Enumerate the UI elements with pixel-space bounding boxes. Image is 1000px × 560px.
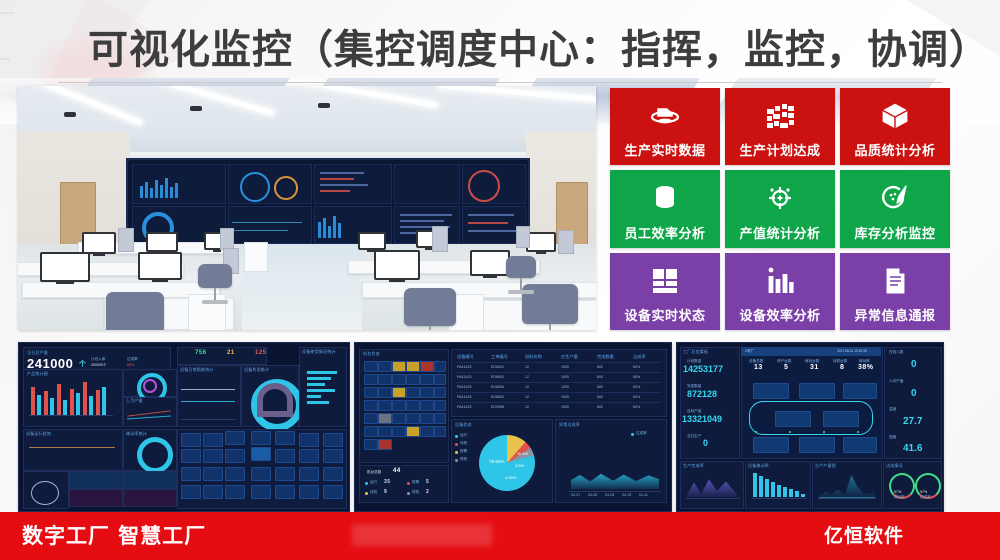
table-header: 应生产量 [561, 354, 578, 360]
slide-root: 可视化监控（集控调度中心：指挥，监控，协调） [0, 0, 1000, 560]
kpi-plan-label: 计划入库 [91, 357, 105, 362]
target-crosshair-icon [725, 179, 835, 217]
panel-title: 生产产量图 [815, 463, 836, 469]
kpi-value: 0 [911, 359, 917, 370]
table-cell: 12 [525, 395, 529, 399]
kpi-value: 14253177 [683, 364, 723, 374]
kpi-value: 872128 [687, 389, 717, 399]
table-cell: ED8051 [491, 375, 504, 379]
kpi-plan-value: 200000个 [91, 363, 107, 368]
table-cell: 600 [597, 385, 603, 389]
gauge-label: 稼动率 [894, 495, 905, 500]
table-header: 设备编号 [457, 354, 474, 360]
card-production-realtime-data[interactable]: 生产实时数据 [610, 88, 720, 165]
table-cell: 600 [597, 365, 603, 369]
panel-title: 稼动率统计 [126, 431, 147, 437]
table-cell: 60% [633, 375, 640, 379]
table-cell: 1000 [561, 375, 569, 379]
stat-value: 38% [858, 364, 874, 371]
card-label: 设备实时状态 [624, 305, 705, 324]
database-cylinder-icon [610, 179, 720, 217]
pie-label: 4.55% [505, 475, 516, 480]
card-quality-statistics-analysis[interactable]: 品质统计分析 [840, 88, 950, 165]
kpi-label: 温度 [889, 407, 896, 412]
axis-tick: 04-10 [622, 493, 631, 497]
table-cell: PA41425 [457, 405, 472, 409]
axis-tick: 04-11 [639, 493, 648, 497]
kpi-value: 0 [703, 438, 708, 448]
table-cell: PA41425 [457, 365, 472, 369]
title-divider [58, 82, 942, 83]
table-cell: 60% [633, 365, 640, 369]
kpi-value: 27.7 [903, 416, 922, 427]
brick-blocks-icon [725, 97, 835, 135]
dashboard-thumbnail-factory-overview[interactable]: 工厂总览看板 计划数量 14253177 完成数量 872128 目标产量 13… [676, 342, 944, 512]
card-abnormal-information-report[interactable]: 异常信息通报 [840, 253, 950, 330]
panel-title: 工厂总览看板 [683, 349, 708, 355]
card-label: 产值统计分析 [739, 223, 820, 242]
table-cell: 1000 [561, 405, 569, 409]
axis-tick: 04-09 [605, 493, 614, 497]
kpi-idle-count: 125 [255, 350, 267, 356]
table-cell: PA41425 [457, 395, 472, 399]
legend-label: 运行 [370, 480, 377, 485]
cube-box-icon [840, 97, 950, 135]
kpi-label: 湿度 [889, 435, 896, 440]
pie-legend: 待机 [460, 441, 467, 446]
card-label: 库存分析监控 [854, 223, 935, 242]
dashboard-tiles-icon [610, 262, 720, 300]
card-label: 员工效率分析 [624, 223, 705, 242]
office-chair [404, 288, 456, 326]
panel-title: 设备状态 [455, 422, 472, 428]
highlight-outline [749, 401, 873, 435]
pie-legend: 报警 [460, 449, 467, 454]
kpi-running-count: 756 [195, 350, 207, 356]
control-room-photo [18, 86, 596, 330]
factory-name: 1号厂 [745, 349, 754, 354]
card-production-plan-achievement[interactable]: 生产计划达成 [725, 88, 835, 165]
pie-legend: 停机 [460, 457, 467, 462]
table-cell: 12 [525, 375, 529, 379]
card-inventory-analysis-monitoring[interactable]: 库存分析监控 [840, 170, 950, 247]
legend-label: 待机 [370, 490, 377, 495]
table-header: 达成率 [633, 354, 646, 360]
pie-label: 4.5% [515, 463, 524, 468]
footer-right-brand: 亿恒软件 [824, 512, 904, 560]
saturn-disk-icon [610, 97, 720, 135]
panel-title: 生产完成率 [683, 463, 704, 469]
machine-total-label: 机台总数 [367, 470, 381, 475]
card-equipment-realtime-status[interactable]: 设备实时状态 [610, 253, 720, 330]
table-header: 投料名称 [525, 354, 542, 360]
pie-label: 11.4% [517, 451, 528, 456]
kpi-value: 13321049 [682, 414, 722, 424]
table-cell: 12 [525, 385, 529, 389]
legend-label: 报警 [412, 480, 419, 485]
panel-title: 设备运行趋势 [26, 431, 51, 437]
panel-title: 达成情况 [886, 463, 903, 469]
kpi-rate-value: 95% [127, 363, 134, 367]
area-legend: 达成率 [636, 431, 647, 436]
card-label: 生产实时数据 [624, 140, 705, 159]
footer-watermark [352, 524, 492, 546]
axis-tick: 04-07 [571, 493, 580, 497]
card-output-value-statistics-analysis[interactable]: 产值统计分析 [725, 170, 835, 247]
kpi-unit: 个 [79, 359, 86, 369]
module-card-grid: 生产实时数据 生产计划达成 [610, 88, 950, 330]
table-cell: 60% [633, 405, 640, 409]
pie-label: 79.55% [489, 459, 505, 464]
office-chair [506, 256, 536, 278]
panel-title: 产品统计图 [27, 371, 48, 377]
pie-chart [479, 435, 535, 491]
legend-value: 5 [426, 479, 429, 485]
table-header: 完成数量 [597, 354, 614, 360]
bg-tick-1 [0, 12, 14, 14]
legend-value: 2 [426, 489, 429, 495]
panel-title: 设备日常损耗统计 [180, 367, 214, 373]
kpi-label: 人均产值 [889, 379, 903, 384]
panel-title: 异常达成率 [559, 422, 580, 428]
table-cell: 12 [525, 405, 529, 409]
table-cell: 12 [525, 365, 529, 369]
table-cell: ED8054 [491, 385, 504, 389]
panel-title: 机台状态 [363, 351, 380, 357]
table-cell: 600 [597, 405, 603, 409]
document-lines-icon [840, 262, 950, 300]
kpi-rate-label: 达成率 [127, 357, 138, 362]
footer-left-text: 数字工厂 智慧工厂 [22, 512, 206, 560]
page-title: 可视化监控（集控调度中心：指挥，监控，协调） [88, 22, 990, 78]
panel-title: 设备稼动率 [748, 463, 769, 469]
kpi-label: 当日生产 [687, 434, 701, 439]
page-title-wrap: 可视化监控（集控调度中心：指挥，监控，协调） [0, 22, 1000, 78]
timestamp: 2017-08-01 19:33:35 [837, 349, 867, 353]
table-cell: 1000 [561, 395, 569, 399]
table-cell: 600 [597, 375, 603, 379]
table-cell: 60% [633, 395, 640, 399]
bar-chart-icon [725, 262, 835, 300]
table-cell: PA41425 [457, 385, 472, 389]
table-cell: 1000 [561, 365, 569, 369]
card-equipment-efficiency-analysis[interactable]: 设备效率分析 [725, 253, 835, 330]
stat-value: 31 [810, 364, 819, 371]
gauge-value: 97% [920, 490, 927, 494]
card-label: 生产计划达成 [739, 140, 820, 159]
gauge-value: 97% [894, 490, 901, 494]
gauge-label: 达成率 [920, 495, 931, 500]
table-cell: 60% [633, 385, 640, 389]
table-cell: 1200 [561, 385, 569, 389]
table-cell: 600 [597, 395, 603, 399]
card-employee-efficiency-analysis[interactable]: 员工效率分析 [610, 170, 720, 247]
stat-value: 5 [784, 364, 788, 371]
office-chair [198, 264, 232, 288]
panel-title: 设备利用统计 [244, 367, 269, 373]
office-chair [106, 292, 164, 330]
magnifier-pen-icon [840, 179, 950, 217]
stat-value: 13 [754, 364, 763, 371]
table-header: 工单编号 [491, 354, 508, 360]
pie-legend: 运行 [460, 433, 467, 438]
video-wall [126, 158, 530, 248]
panel-title: 设备使用情况统计 [302, 349, 336, 355]
footer-banner: 数字工厂 智慧工厂 亿恒软件 [0, 512, 1000, 560]
table-cell: ED8051 [491, 365, 504, 369]
card-label: 品质统计分析 [854, 140, 935, 159]
kpi-value: 41.6 [903, 443, 922, 454]
card-label: 设备效率分析 [739, 305, 820, 324]
axis-tick: 04-08 [588, 493, 597, 497]
machine-total-value: 44 [393, 468, 401, 474]
kpi-label: 在线人数 [889, 350, 903, 355]
legend-value: 35 [384, 479, 391, 485]
table-cell: ED8052 [491, 395, 504, 399]
panel-title: 上月产量 [126, 398, 143, 404]
dashboard-thumbnail-production[interactable]: 当日总产量 241000 个 计划入库 200000个 达成率 95% 产品统计… [18, 342, 350, 512]
card-label: 异常信息通报 [854, 305, 935, 324]
table-cell: ED9058 [491, 405, 504, 409]
kpi-stopped-count: 21 [227, 350, 235, 356]
legend-value: 9 [384, 489, 387, 495]
legend-label: 停机 [412, 490, 419, 495]
dashboard-thumbnail-equipment-orders[interactable]: 机台状态 [354, 342, 672, 512]
table-cell: PA41425 [457, 375, 472, 379]
stat-value: 8 [840, 364, 844, 371]
kpi-value: 0 [911, 388, 917, 399]
